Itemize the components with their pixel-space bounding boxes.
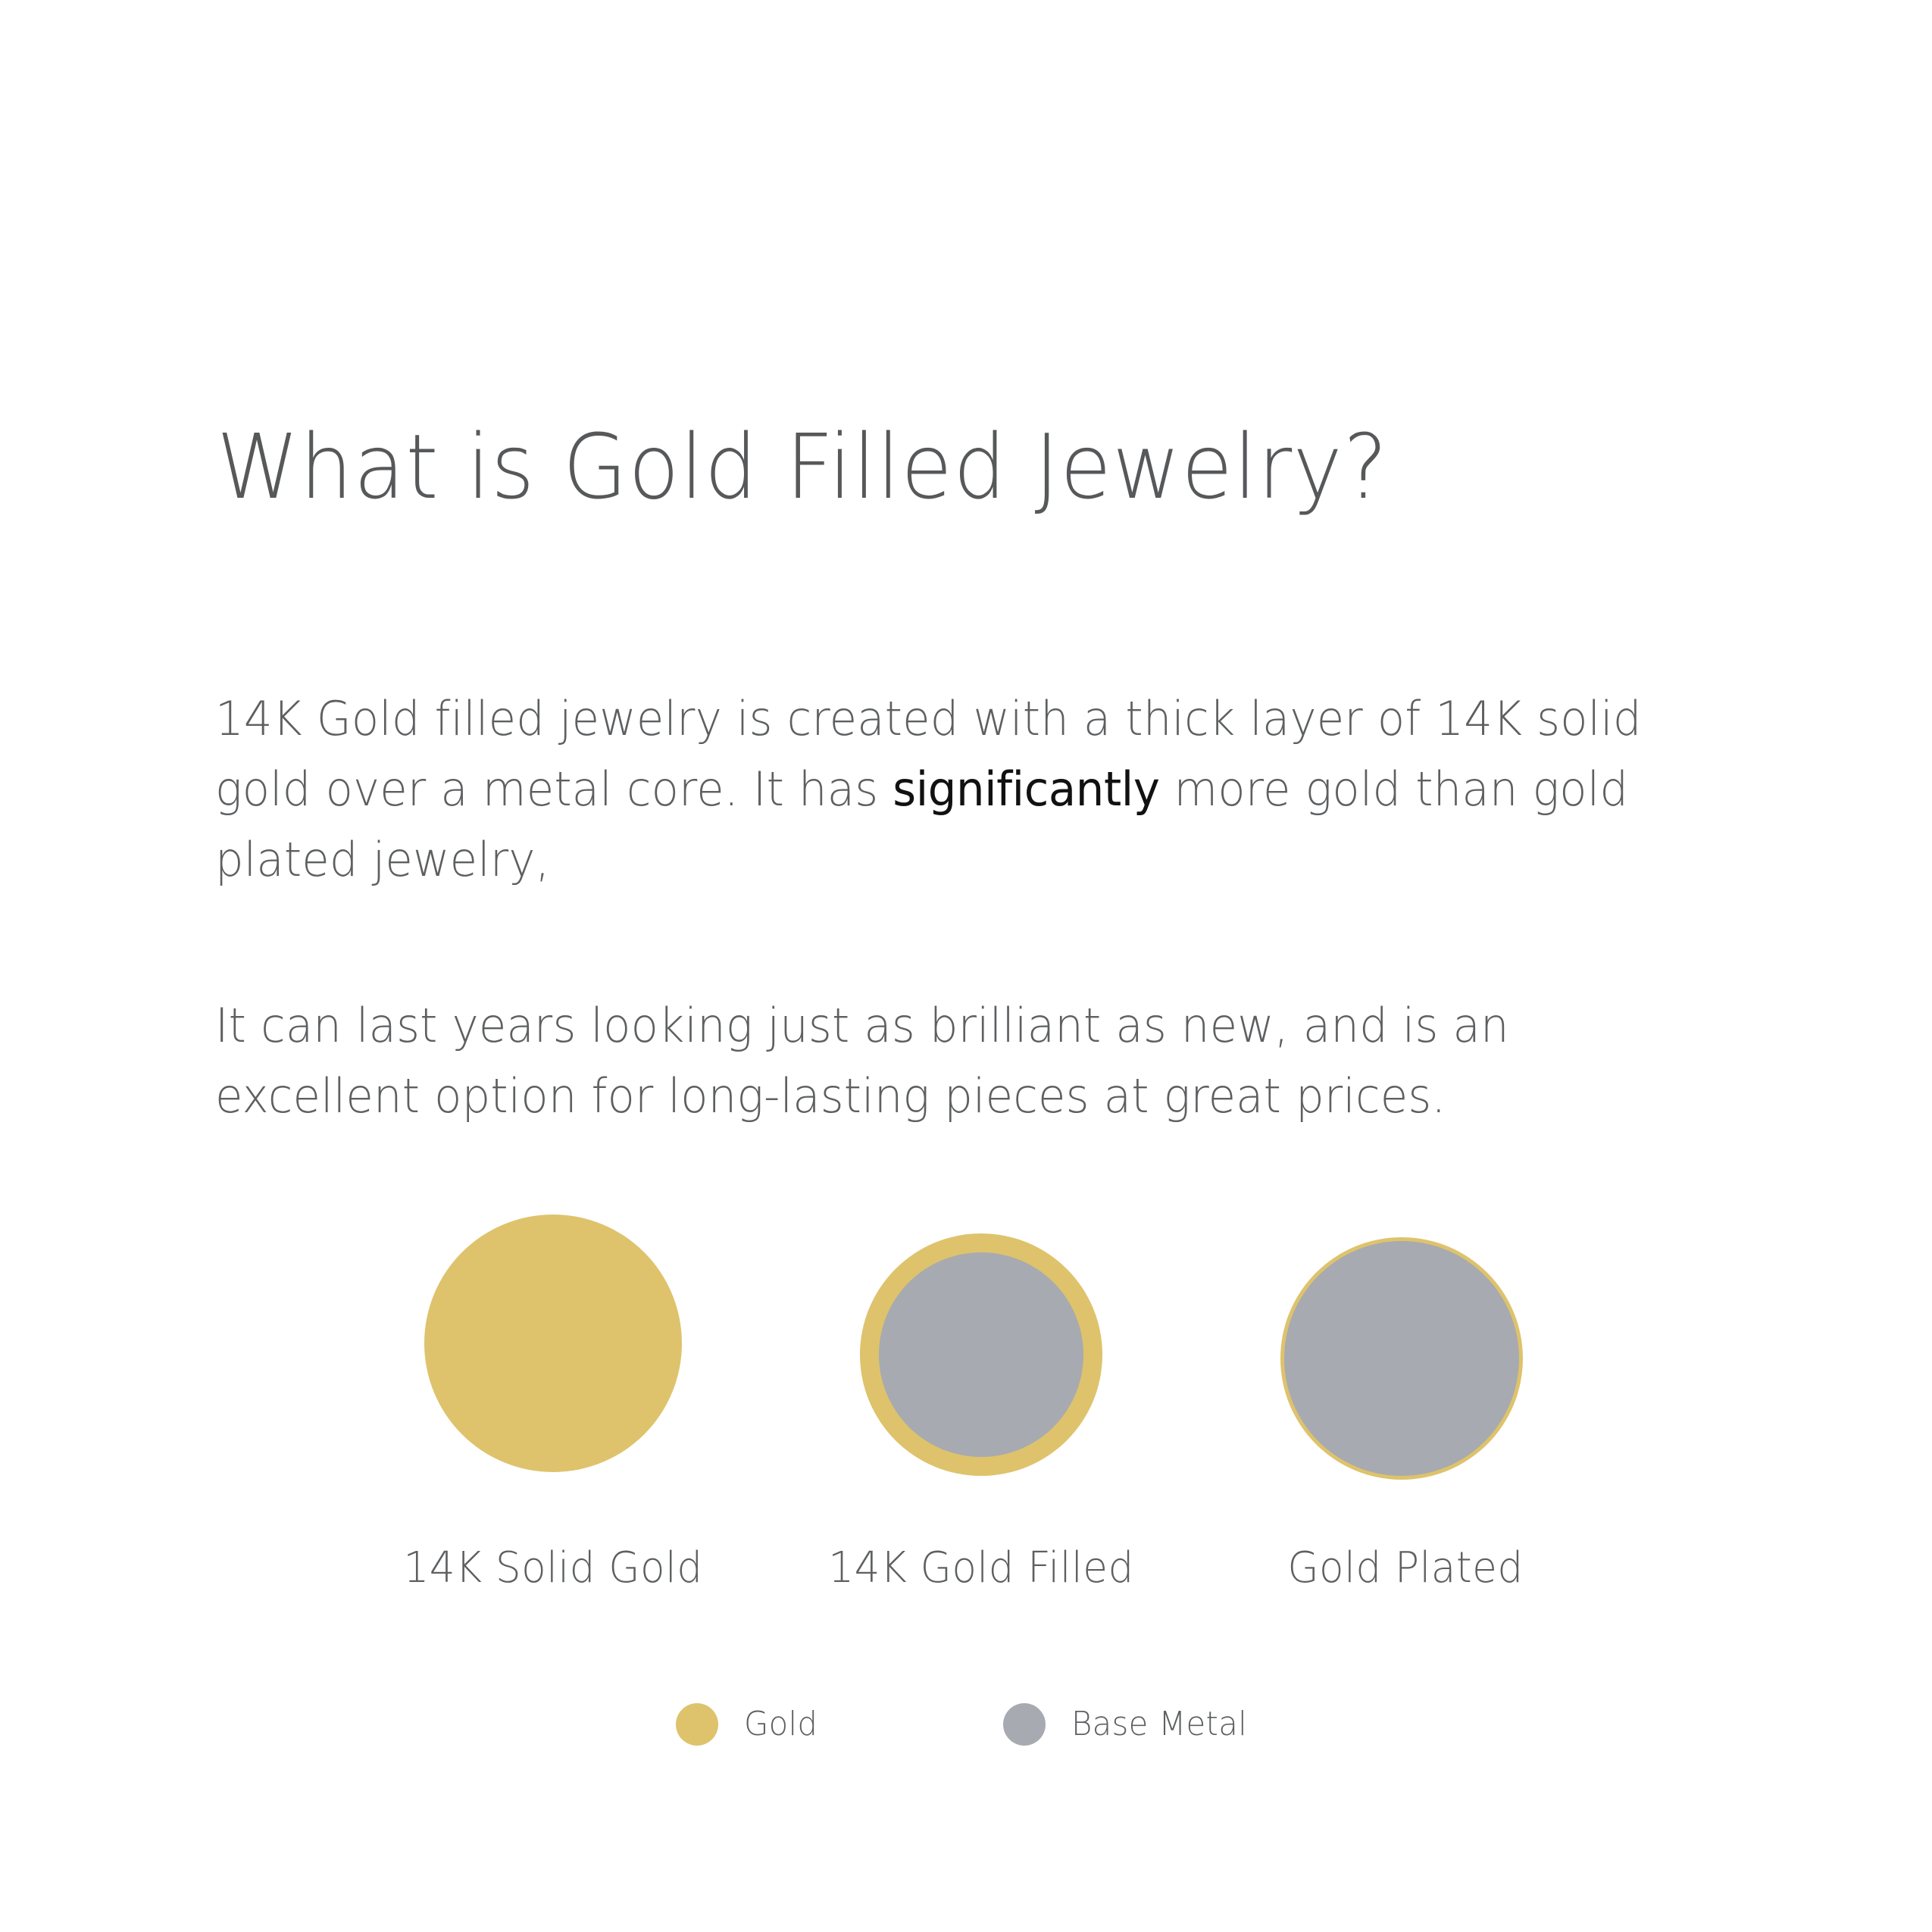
gold-swatch-icon bbox=[676, 1703, 718, 1746]
page-title: What is Gold Filled Jewelry? bbox=[217, 410, 1696, 524]
diagram-legend: Gold Base Metal bbox=[0, 1696, 1932, 1753]
paragraph-two: It can last years looking just as brilli… bbox=[215, 990, 1677, 1131]
legend-item-base-metal: Base Metal bbox=[1003, 1703, 1256, 1746]
caption-gold-plated: Gold Plated bbox=[1099, 1540, 1712, 1597]
solid-gold-disc bbox=[424, 1215, 682, 1472]
diagram-item-solid-gold bbox=[420, 1211, 686, 1483]
body-copy: 14K Gold filled jewelry is created with … bbox=[215, 636, 1746, 1178]
paragraph-one: 14K Gold filled jewelry is created with … bbox=[215, 683, 1677, 895]
diagram-item-gold-plated bbox=[1280, 1211, 1538, 1483]
gold-filled-base-metal-core bbox=[879, 1252, 1083, 1457]
legend-label-base-metal: Base Metal bbox=[1071, 1703, 1247, 1746]
diagram-captions: 14K Solid Gold 14K Gold Filled Gold Plat… bbox=[0, 1540, 1932, 1600]
infographic-canvas: What is Gold Filled Jewelry? 14K Gold fi… bbox=[0, 0, 1932, 1932]
diagram-item-gold-filled bbox=[856, 1211, 1114, 1483]
comparison-diagram bbox=[0, 1211, 1932, 1483]
legend-label-gold: Gold bbox=[744, 1703, 818, 1746]
gold-plated-base-metal-core bbox=[1284, 1241, 1519, 1476]
base-metal-swatch-icon bbox=[1003, 1703, 1046, 1746]
legend-item-gold: Gold bbox=[676, 1703, 821, 1746]
paragraph-one-emphasis: significantly bbox=[893, 761, 1159, 817]
